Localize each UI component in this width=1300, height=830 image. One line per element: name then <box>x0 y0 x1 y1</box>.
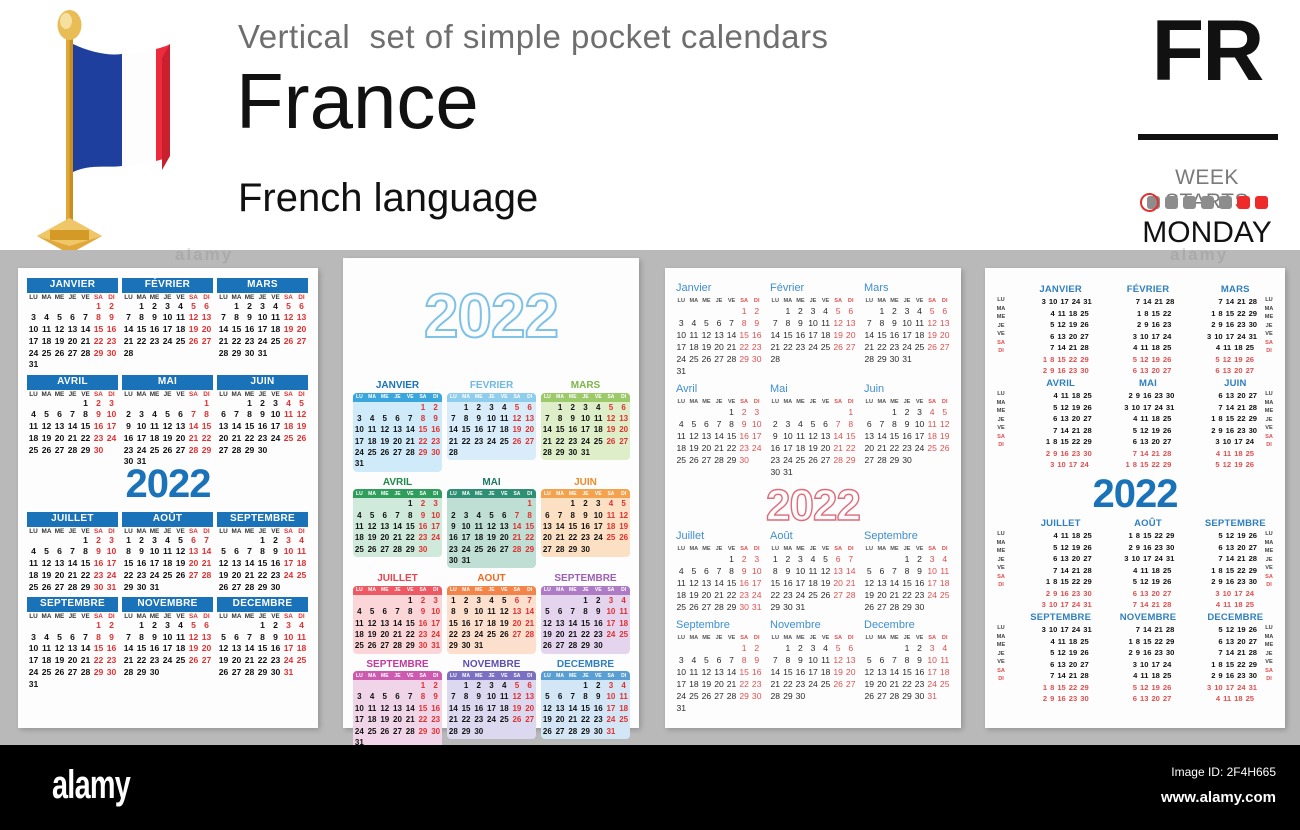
day-cell[interactable]: 21 <box>566 714 579 725</box>
day-cell[interactable] <box>66 398 79 410</box>
day-cell[interactable]: 22 <box>579 629 592 640</box>
day-cell[interactable]: 17 <box>913 430 926 442</box>
day-cell[interactable]: 3 <box>161 620 174 632</box>
day-cell[interactable]: 17 <box>675 678 688 690</box>
day-cell[interactable]: 18 <box>1151 565 1159 577</box>
day-cell[interactable]: 25 <box>688 690 701 702</box>
day-cell[interactable]: 19 <box>1151 354 1159 366</box>
day-cell[interactable]: 1 <box>888 406 901 418</box>
day-cell[interactable]: 25 <box>282 433 295 445</box>
day-cell[interactable]: 5 <box>366 606 379 617</box>
day-cell[interactable]: 2 <box>1046 448 1050 460</box>
alamy-url[interactable]: www.alamy.com <box>1161 789 1276 806</box>
day-cell[interactable]: 29 <box>725 601 738 613</box>
day-cell[interactable]: 2 <box>148 301 161 313</box>
day-cell[interactable]: 3 <box>750 553 763 565</box>
day-cell[interactable]: 13 <box>1057 659 1065 671</box>
day-cell[interactable]: 18 <box>605 521 618 532</box>
month-block[interactable]: MarsLUMAMEJEVESADI1234567891011121314151… <box>863 282 951 377</box>
day-cell[interactable]: 18 <box>472 532 485 543</box>
day-cell[interactable]: 16 <box>769 442 782 454</box>
day-cell[interactable]: 26 <box>863 601 876 613</box>
day-cell[interactable]: 20 <box>217 433 230 445</box>
day-cell[interactable]: 27 <box>1163 693 1171 705</box>
day-cell[interactable]: 2 <box>1211 425 1215 437</box>
day-cell[interactable]: 16 <box>105 643 118 655</box>
day-cell[interactable]: 19 <box>498 618 511 629</box>
day-cell[interactable] <box>863 642 876 654</box>
day-cell[interactable]: 26 <box>217 667 230 679</box>
day-cell[interactable]: 10 <box>579 413 592 424</box>
day-cell[interactable]: 30 <box>750 353 763 365</box>
day-cell[interactable]: 6 <box>1133 365 1137 377</box>
month-block[interactable]: MARSLUMAMEJEVESADI1234567891011121314151… <box>217 278 308 371</box>
day-cell[interactable]: 7 <box>404 413 417 424</box>
day-cell[interactable]: 4 <box>1216 448 1220 460</box>
day-cell[interactable]: 4 <box>592 402 605 413</box>
day-cell[interactable]: 28 <box>1166 296 1174 308</box>
day-cell[interactable]: 20 <box>1072 553 1080 565</box>
day-cell[interactable]: 19 <box>1151 682 1159 694</box>
day-cell[interactable]: 19 <box>832 666 845 678</box>
day-cell[interactable]: 2 <box>1129 390 1133 402</box>
day-cell[interactable]: 5 <box>1218 530 1222 542</box>
day-cell[interactable]: 25 <box>675 454 688 466</box>
day-cell[interactable]: 21 <box>1069 670 1077 682</box>
day-cell[interactable]: 26 <box>1163 576 1171 588</box>
day-cell[interactable]: 24 <box>807 678 820 690</box>
day-cell[interactable]: 14 <box>404 424 417 435</box>
day-cell[interactable]: 21 <box>243 570 256 582</box>
day-cell[interactable]: 25 <box>1246 448 1254 460</box>
day-cell[interactable]: 2 <box>417 498 430 509</box>
day-cell[interactable]: 31 <box>579 447 592 458</box>
day-cell[interactable]: 18 <box>27 433 40 445</box>
day-cell[interactable]: 29 <box>122 582 135 594</box>
day-cell[interactable]: 7 <box>888 565 901 577</box>
day-cell[interactable]: 23 <box>429 714 442 725</box>
day-cell[interactable] <box>66 535 79 547</box>
day-cell[interactable]: 27 <box>554 726 567 737</box>
month-block[interactable]: 4111825512192661320277142128181522292916… <box>1011 529 1094 611</box>
day-cell[interactable]: 24 <box>1080 459 1088 471</box>
day-cell[interactable]: 6 <box>876 654 889 666</box>
day-cell[interactable]: 29 <box>901 690 914 702</box>
day-cell[interactable]: 1 <box>1129 636 1133 648</box>
day-cell[interactable]: 5 <box>485 510 498 521</box>
day-cell[interactable]: 29 <box>79 445 92 457</box>
day-cell[interactable]: 25 <box>174 655 187 667</box>
day-cell[interactable]: 16 <box>122 433 135 445</box>
day-cell[interactable]: 20 <box>200 643 213 655</box>
day-cell[interactable]: 12 <box>1226 530 1234 542</box>
day-cell[interactable]: 18 <box>688 341 701 353</box>
day-cell[interactable]: 21 <box>79 336 92 348</box>
day-cell[interactable]: 23 <box>592 714 605 725</box>
day-cell[interactable]: 7 <box>1133 448 1137 460</box>
day-cell[interactable]: 26 <box>832 341 845 353</box>
day-cell[interactable]: 18 <box>1072 530 1080 542</box>
day-cell[interactable]: 5 <box>295 398 308 410</box>
day-cell[interactable]: 9 <box>769 430 782 442</box>
day-cell[interactable]: 7 <box>725 317 738 329</box>
day-cell[interactable]: 12 <box>1057 319 1065 331</box>
day-cell[interactable]: 17 <box>485 703 498 714</box>
day-cell[interactable]: 27 <box>844 678 857 690</box>
day-cell[interactable]: 19 <box>53 655 66 667</box>
month-block[interactable]: 1815222929162330310172431411182551219266… <box>1094 529 1177 611</box>
month-block[interactable]: NOVEMBRELUMAMEJEVESADI123456789101112131… <box>447 659 536 751</box>
day-cell[interactable]: 1 <box>417 680 430 691</box>
day-cell[interactable]: 11 <box>27 558 40 570</box>
day-cell[interactable]: 24 <box>1154 402 1162 414</box>
day-cell[interactable]: 2 <box>794 305 807 317</box>
day-cell[interactable]: 30 <box>769 466 782 478</box>
day-cell[interactable]: 31 <box>105 582 118 594</box>
day-cell[interactable]: 20 <box>523 703 536 714</box>
day-cell[interactable]: 26 <box>187 655 200 667</box>
month-block[interactable]: 4111825512192661320277142128181522292916… <box>1011 389 1094 471</box>
day-cell[interactable]: 9 <box>1053 588 1057 600</box>
day-cell[interactable]: 15 <box>256 558 269 570</box>
day-cell[interactable]: 2 <box>1129 647 1133 659</box>
day-cell[interactable]: 17 <box>782 442 795 454</box>
day-cell[interactable]: 21 <box>1237 402 1245 414</box>
day-cell[interactable]: 12 <box>295 409 308 421</box>
day-cell[interactable]: 27 <box>1163 436 1171 448</box>
day-cell[interactable]: 11 <box>675 430 688 442</box>
day-cell[interactable]: 24 <box>429 532 442 543</box>
day-cell[interactable]: 13 <box>523 413 536 424</box>
day-cell[interactable]: 30 <box>460 640 473 651</box>
day-cell[interactable]: 18 <box>40 655 53 667</box>
day-cell[interactable]: 24 <box>27 348 40 360</box>
day-cell[interactable]: 2 <box>269 620 282 632</box>
day-cell[interactable]: 23 <box>579 532 592 543</box>
day-cell[interactable]: 14 <box>79 643 92 655</box>
day-cell[interactable]: 12 <box>1140 576 1148 588</box>
day-cell[interactable]: 16 <box>1057 693 1065 705</box>
day-cell[interactable]: 13 <box>523 691 536 702</box>
day-cell[interactable]: 26 <box>511 714 524 725</box>
day-cell[interactable]: 11 <box>1061 530 1069 542</box>
day-cell[interactable]: 7 <box>447 691 460 702</box>
day-cell[interactable]: 8 <box>230 312 243 324</box>
day-cell[interactable]: 4 <box>1133 565 1137 577</box>
day-cell[interactable]: 23 <box>913 589 926 601</box>
day-cell[interactable]: 19 <box>1237 530 1245 542</box>
day-cell[interactable]: 8 <box>135 312 148 324</box>
day-cell[interactable]: 11 <box>926 418 939 430</box>
day-cell[interactable]: 26 <box>541 726 554 737</box>
day-cell[interactable]: 19 <box>1072 402 1080 414</box>
day-cell[interactable]: 7 <box>713 418 726 430</box>
day-cell[interactable]: 23 <box>105 655 118 667</box>
day-cell[interactable]: 23 <box>243 336 256 348</box>
day-cell[interactable]: 15 <box>888 430 901 442</box>
day-cell[interactable]: 5 <box>161 409 174 421</box>
day-cell[interactable]: 8 <box>243 409 256 421</box>
day-cell[interactable] <box>230 398 243 410</box>
day-cell[interactable]: 26 <box>1163 425 1171 437</box>
day-cell[interactable]: 28 <box>404 447 417 458</box>
day-cell[interactable]: 6 <box>876 565 889 577</box>
day-cell[interactable]: 15 <box>579 618 592 629</box>
day-cell[interactable]: 13 <box>1140 436 1148 448</box>
day-cell[interactable]: 28 <box>391 544 404 555</box>
day-cell[interactable]: 23 <box>417 629 430 640</box>
day-cell[interactable]: 10 <box>269 409 282 421</box>
day-cell[interactable]: 13 <box>66 643 79 655</box>
month-block[interactable]: 2916233031017243141118255121926613202771… <box>1094 389 1177 471</box>
day-cell[interactable]: 19 <box>1069 647 1077 659</box>
day-cell[interactable]: 10 <box>27 324 40 336</box>
day-cell[interactable]: 6 <box>66 312 79 324</box>
day-cell[interactable]: 1 <box>1046 436 1050 448</box>
day-cell[interactable]: 31 <box>353 458 366 469</box>
day-cell[interactable]: 3 <box>926 642 939 654</box>
day-cell[interactable]: 30 <box>105 348 118 360</box>
day-cell[interactable]: 2 <box>472 402 485 413</box>
day-cell[interactable]: 5 <box>617 498 630 509</box>
day-cell[interactable]: 3 <box>675 317 688 329</box>
day-cell[interactable] <box>243 620 256 632</box>
day-cell[interactable] <box>122 620 135 632</box>
day-cell[interactable]: 14 <box>511 521 524 532</box>
day-cell[interactable]: 27 <box>541 544 554 555</box>
day-cell[interactable]: 3 <box>1124 553 1128 565</box>
day-cell[interactable]: 29 <box>725 454 738 466</box>
day-cell[interactable]: 4 <box>675 418 688 430</box>
day-cell[interactable]: 21 <box>187 433 200 445</box>
day-cell[interactable]: 26 <box>1083 542 1091 554</box>
day-cell[interactable]: 23 <box>592 629 605 640</box>
month-block[interactable]: DecembreLUMAMEJEVESADI123456789101112131… <box>863 619 951 714</box>
day-cell[interactable]: 5 <box>282 301 295 313</box>
day-cell[interactable]: 20 <box>391 714 404 725</box>
day-cell[interactable]: 2 <box>1211 576 1215 588</box>
day-cell[interactable]: 28 <box>769 690 782 702</box>
day-cell[interactable]: 4 <box>617 680 630 691</box>
day-cell[interactable]: 6 <box>819 418 832 430</box>
day-cell[interactable]: 5 <box>807 418 820 430</box>
day-cell[interactable] <box>725 642 738 654</box>
day-cell[interactable]: 8 <box>1053 436 1057 448</box>
day-cell[interactable]: 30 <box>913 601 926 613</box>
day-cell[interactable]: 4 <box>605 498 618 509</box>
day-cell[interactable]: 16 <box>592 618 605 629</box>
day-cell[interactable]: 9 <box>148 632 161 644</box>
day-cell[interactable]: 7 <box>769 654 782 666</box>
day-cell[interactable]: 18 <box>498 703 511 714</box>
day-cell[interactable]: 10 <box>460 521 473 532</box>
day-cell[interactable]: 17 <box>135 433 148 445</box>
day-cell[interactable]: 22 <box>1237 413 1245 425</box>
day-cell[interactable]: 6 <box>1133 588 1137 600</box>
day-cell[interactable] <box>675 305 688 317</box>
day-cell[interactable]: 2 <box>738 553 751 565</box>
day-cell[interactable]: 6 <box>1133 693 1137 705</box>
day-cell[interactable]: 5 <box>366 510 379 521</box>
day-cell[interactable]: 29 <box>1249 413 1257 425</box>
day-cell[interactable]: 19 <box>700 678 713 690</box>
day-cell[interactable]: 10 <box>750 565 763 577</box>
day-cell[interactable]: 21 <box>79 655 92 667</box>
day-cell[interactable] <box>700 305 713 317</box>
day-cell[interactable]: 22 <box>1237 308 1245 320</box>
day-cell[interactable]: 6 <box>230 546 243 558</box>
day-cell[interactable]: 8 <box>1218 659 1222 671</box>
day-cell[interactable]: 14 <box>217 324 230 336</box>
day-cell[interactable]: 9 <box>913 565 926 577</box>
day-cell[interactable]: 30 <box>447 555 460 566</box>
day-cell[interactable]: 16 <box>1143 390 1151 402</box>
day-cell[interactable]: 3 <box>105 398 118 410</box>
day-cell[interactable]: 29 <box>554 447 567 458</box>
day-cell[interactable]: 4 <box>295 620 308 632</box>
day-cell[interactable]: 31 <box>1083 624 1091 636</box>
day-cell[interactable]: 6 <box>200 301 213 313</box>
day-cell[interactable]: 29 <box>92 348 105 360</box>
day-cell[interactable]: 4 <box>161 535 174 547</box>
day-cell[interactable]: 7 <box>391 606 404 617</box>
day-cell[interactable]: 21 <box>725 678 738 690</box>
day-cell[interactable]: 9 <box>105 632 118 644</box>
day-cell[interactable]: 30 <box>417 640 430 651</box>
day-cell[interactable]: 28 <box>230 445 243 457</box>
day-cell[interactable] <box>541 595 554 606</box>
day-cell[interactable]: 24 <box>926 589 939 601</box>
day-cell[interactable]: 19 <box>378 436 391 447</box>
day-cell[interactable]: 18 <box>1151 342 1159 354</box>
day-cell[interactable]: 13 <box>378 618 391 629</box>
day-cell[interactable]: 21 <box>554 532 567 543</box>
day-cell[interactable]: 3 <box>353 691 366 702</box>
day-cell[interactable]: 4 <box>1133 342 1137 354</box>
day-cell[interactable]: 10 <box>592 510 605 521</box>
day-cell[interactable]: 21 <box>66 433 79 445</box>
day-cell[interactable]: 11 <box>366 703 379 714</box>
day-cell[interactable]: 2 <box>1137 319 1141 331</box>
day-cell[interactable]: 20 <box>541 532 554 543</box>
day-cell[interactable]: 7 <box>79 312 92 324</box>
day-cell[interactable]: 20 <box>187 558 200 570</box>
day-cell[interactable]: 27 <box>876 601 889 613</box>
day-cell[interactable]: 20 <box>700 442 713 454</box>
day-cell[interactable]: 31 <box>1083 296 1091 308</box>
day-cell[interactable]: 19 <box>819 577 832 589</box>
day-cell[interactable]: 3 <box>1207 331 1211 343</box>
day-cell[interactable]: 23 <box>429 436 442 447</box>
day-cell[interactable]: 23 <box>92 433 105 445</box>
day-cell[interactable]: 12 <box>938 418 951 430</box>
day-cell[interactable]: 17 <box>1060 624 1068 636</box>
day-cell[interactable]: 18 <box>353 629 366 640</box>
day-cell[interactable]: 2 <box>794 642 807 654</box>
day-cell[interactable]: 25 <box>498 436 511 447</box>
day-cell[interactable]: 23 <box>888 341 901 353</box>
day-cell[interactable]: 8 <box>738 654 751 666</box>
day-cell[interactable]: 4 <box>617 595 630 606</box>
day-cell[interactable]: 20 <box>66 655 79 667</box>
day-cell[interactable]: 25 <box>295 655 308 667</box>
day-cell[interactable]: 21 <box>122 655 135 667</box>
day-cell[interactable]: 25 <box>27 445 40 457</box>
day-cell[interactable]: 17 <box>750 430 763 442</box>
day-cell[interactable]: 27 <box>1249 390 1257 402</box>
day-cell[interactable]: 31 <box>282 667 295 679</box>
day-cell[interactable]: 11 <box>174 312 187 324</box>
day-cell[interactable]: 6 <box>391 413 404 424</box>
day-cell[interactable]: 25 <box>819 678 832 690</box>
day-cell[interactable]: 12 <box>161 421 174 433</box>
day-cell[interactable]: 9 <box>472 691 485 702</box>
day-cell[interactable]: 21 <box>713 589 726 601</box>
day-cell[interactable]: 10 <box>1223 588 1231 600</box>
day-cell[interactable] <box>700 553 713 565</box>
day-cell[interactable]: 20 <box>1151 365 1159 377</box>
day-cell[interactable]: 11 <box>1058 636 1066 648</box>
day-cell[interactable]: 18 <box>819 666 832 678</box>
day-cell[interactable]: 4 <box>353 606 366 617</box>
day-cell[interactable]: 5 <box>187 620 200 632</box>
day-cell[interactable]: 10 <box>1049 296 1057 308</box>
day-cell[interactable]: 7 <box>1133 599 1137 611</box>
day-cell[interactable]: 15 <box>122 558 135 570</box>
day-cell[interactable]: 23 <box>1163 319 1171 331</box>
day-cell[interactable]: 22 <box>523 532 536 543</box>
day-cell[interactable]: 21 <box>1151 599 1159 611</box>
day-cell[interactable]: 10 <box>794 565 807 577</box>
day-cell[interactable]: 8 <box>404 510 417 521</box>
day-cell[interactable]: 4 <box>27 546 40 558</box>
day-cell[interactable]: 2 <box>460 595 473 606</box>
day-cell[interactable]: 28 <box>1249 296 1257 308</box>
day-cell[interactable]: 14 <box>566 618 579 629</box>
day-cell[interactable]: 10 <box>1132 402 1140 414</box>
day-cell[interactable]: 5 <box>1050 319 1054 331</box>
day-cell[interactable]: 3 <box>1042 296 1046 308</box>
day-cell[interactable]: 15 <box>135 643 148 655</box>
day-cell[interactable]: 30 <box>472 726 485 737</box>
day-cell[interactable]: 1 <box>1046 576 1050 588</box>
day-cell[interactable]: 11 <box>1140 413 1148 425</box>
day-cell[interactable]: 4 <box>282 398 295 410</box>
day-cell[interactable]: 12 <box>807 430 820 442</box>
day-cell[interactable] <box>888 642 901 654</box>
day-cell[interactable]: 25 <box>617 714 630 725</box>
day-cell[interactable]: 26 <box>1163 682 1171 694</box>
day-cell[interactable]: 20 <box>1072 413 1080 425</box>
day-cell[interactable]: 21 <box>1237 647 1245 659</box>
day-cell[interactable]: 25 <box>617 629 630 640</box>
day-cell[interactable]: 27 <box>295 336 308 348</box>
day-cell[interactable]: 1 <box>523 498 536 509</box>
day-cell[interactable] <box>725 305 738 317</box>
day-cell[interactable]: 14 <box>832 430 845 442</box>
day-cell[interactable]: 21 <box>447 436 460 447</box>
month-block[interactable]: SeptembreLUMAMEJEVESADI12345678910111213… <box>675 619 763 714</box>
day-cell[interactable]: 3 <box>807 305 820 317</box>
day-cell[interactable]: 14 <box>554 521 567 532</box>
day-cell[interactable]: 9 <box>1218 670 1222 682</box>
day-cell[interactable]: 22 <box>725 589 738 601</box>
day-cell[interactable]: 8 <box>1218 413 1222 425</box>
day-cell[interactable]: 11 <box>1140 342 1148 354</box>
month-block[interactable]: FÉVRIERLUMAMEJEVESADI1234567891011121314… <box>447 380 536 472</box>
day-cell[interactable]: 9 <box>92 546 105 558</box>
day-cell[interactable]: 28 <box>844 589 857 601</box>
